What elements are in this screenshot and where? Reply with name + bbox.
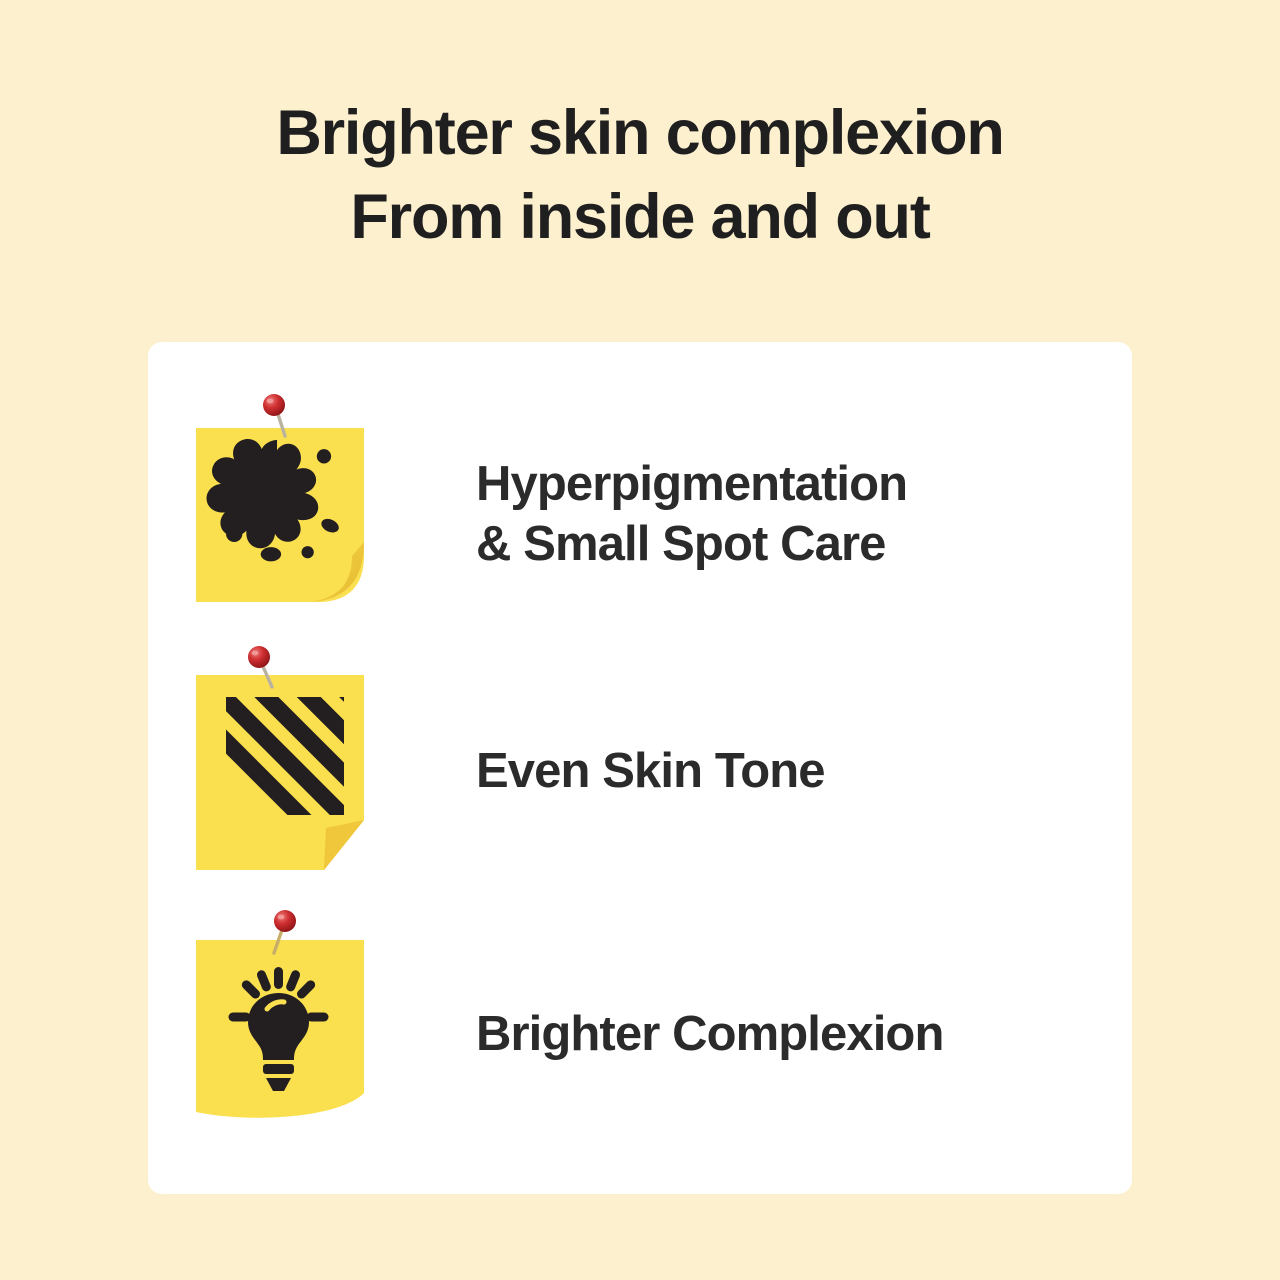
sticky-note-stripes <box>188 642 418 902</box>
page-title-line-2: From inside and out <box>0 176 1280 260</box>
feature-label-brighter-complexion: Brighter Complexion <box>476 1005 944 1065</box>
feature-row-brighter-complexion: Brighter Complexion <box>148 907 1132 1162</box>
note-corner-fold-shade <box>324 820 364 870</box>
sticky-note-bulb <box>188 907 418 1162</box>
feature-label-even-skin-tone: Even Skin Tone <box>476 742 825 802</box>
feature-row-hyperpigmentation: Hyperpigmentation & Small Spot Care <box>148 390 1132 640</box>
page-title-line-1: Brighter skin complexion <box>0 92 1280 176</box>
feature-list: Hyperpigmentation & Small Spot Care <box>148 342 1132 1194</box>
sticky-note-splatter <box>188 390 418 640</box>
feature-row-even-skin-tone: Even Skin Tone <box>148 642 1132 902</box>
feature-card: Hyperpigmentation & Small Spot Care <box>148 342 1132 1194</box>
page-title: Brighter skin complexion From inside and… <box>0 92 1280 260</box>
feature-label-hyperpigmentation: Hyperpigmentation & Small Spot Care <box>476 455 907 575</box>
